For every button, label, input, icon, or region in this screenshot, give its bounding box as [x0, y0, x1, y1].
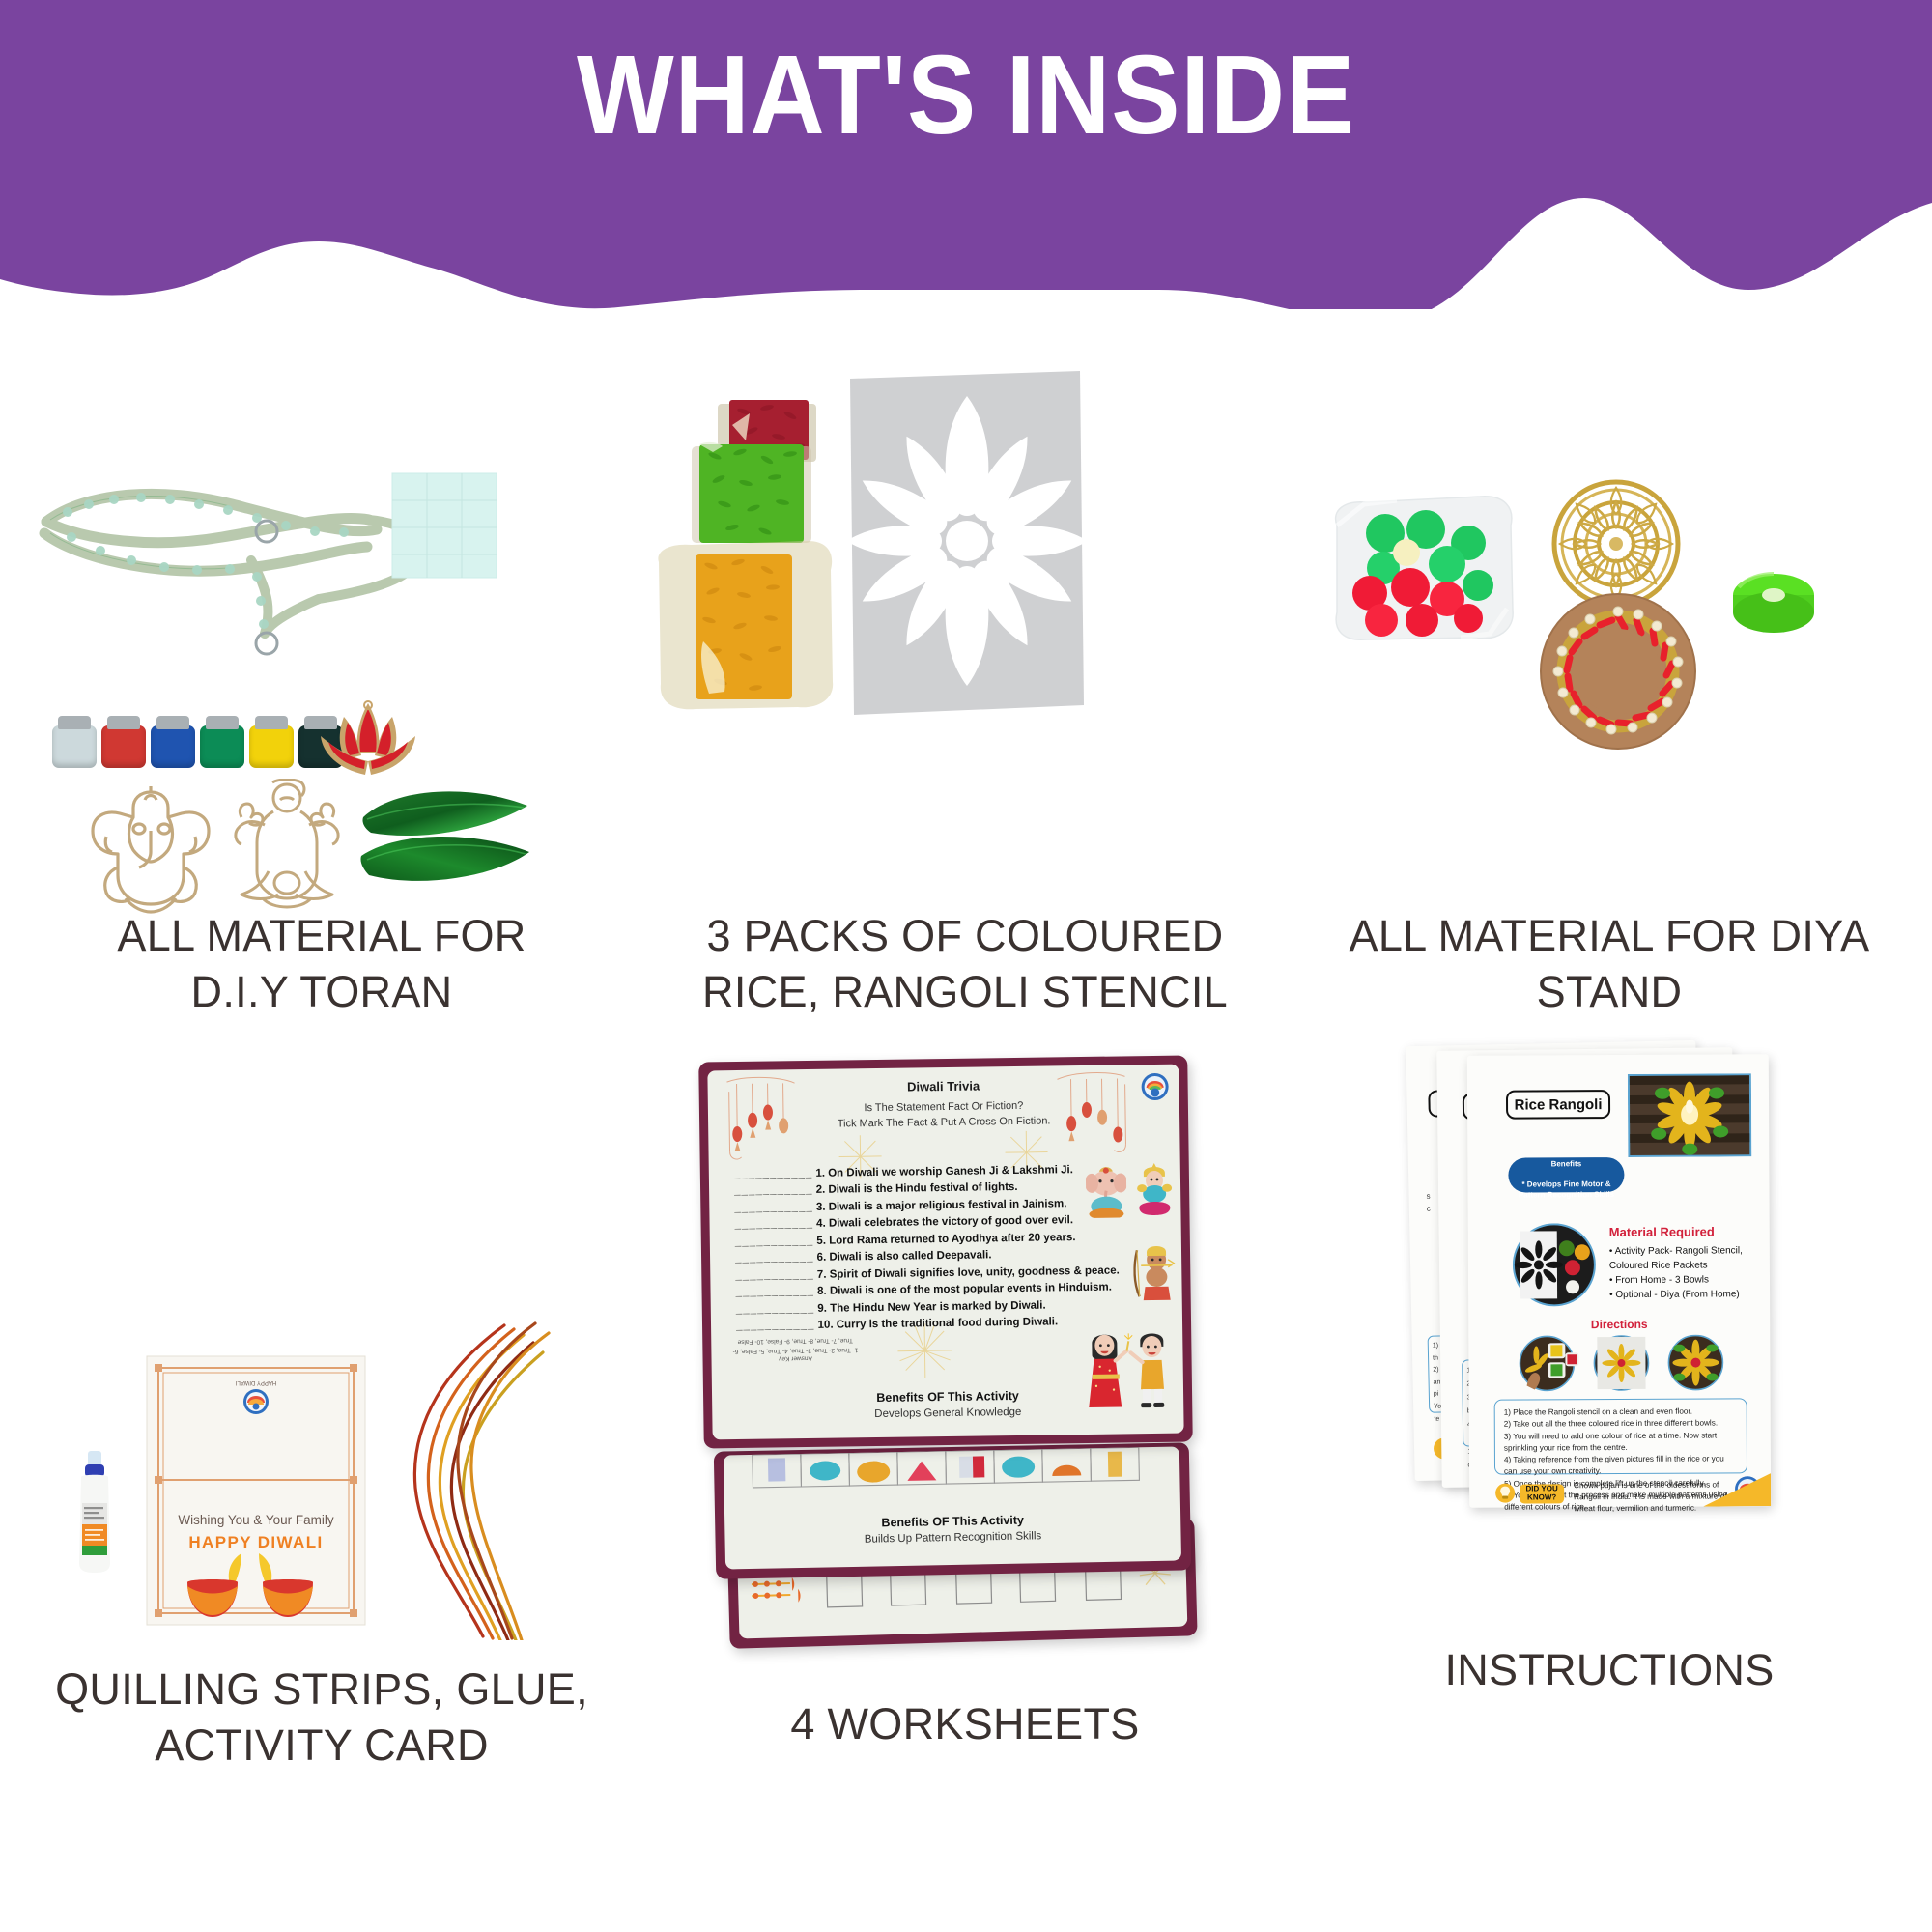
- directions-box: 1) Place the Rangoli stencil on a clean …: [1494, 1398, 1747, 1474]
- answer-blank[interactable]: ___________: [736, 1320, 815, 1332]
- activity-name-pill: Rice Rangoli: [1506, 1090, 1610, 1120]
- item-coloured-rice-stencil: 3 PACKS OF COLOURED RICE, RANGOLI STENCI…: [643, 348, 1287, 966]
- question-text: 2. Diwali is the Hindu festival of light…: [816, 1181, 1018, 1196]
- instruction-page-3-text: sc: [1426, 1191, 1431, 1216]
- question-text: 9. The Hindu New Year is marked by Diwal…: [817, 1299, 1045, 1314]
- rangoli-stencil: [844, 367, 1088, 721]
- page-title: WHAT'S INSIDE: [77, 37, 1855, 155]
- contents-grid: ALL MATERIAL FOR D.I.Y TORAN: [0, 290, 1932, 1932]
- bulb-icon: [1494, 1483, 1516, 1504]
- answer-key-text: 1- True, 2- True, 3- True, 4- True, 5- F…: [732, 1335, 858, 1355]
- paint-pot-green: [200, 725, 244, 768]
- quilling-strips: [390, 1321, 554, 1640]
- benefits-cloud-body: * Develops Fine Motor & Pattern Recognit…: [1519, 1179, 1614, 1199]
- paint-pot-red: [101, 725, 146, 768]
- question-text: 6. Diwali is also called Deepavali.: [817, 1250, 992, 1264]
- item-instructions: sc 1)th2)anpiYote 123b41c Rice Rangoli: [1287, 1024, 1932, 1855]
- answer-blank[interactable]: ___________: [735, 1252, 814, 1264]
- question-text: 8. Diwali is one of the most popular eve…: [817, 1282, 1112, 1297]
- material-item-1: • Activity Pack- Rangoli Stencil,: [1609, 1243, 1764, 1259]
- ganesh-mdf-cutout: [83, 784, 218, 916]
- worksheet-sheet-2-paper: Benefits OF This Activity Builds Up Patt…: [724, 1446, 1181, 1569]
- question-text: 3. Diwali is a major religious festival …: [816, 1198, 1067, 1213]
- activity-greeting-card: HAPPY DIWALI Wishing You & Your Family H…: [145, 1354, 367, 1627]
- caption-worksheets: 4 WORKSHEETS: [643, 1696, 1287, 1752]
- item-worksheets: Pl: [643, 1024, 1287, 1855]
- material-required-heading: Material Required: [1609, 1224, 1715, 1239]
- did-you-know-text: Chowk pujan is one of the oldest forms o…: [1574, 1479, 1740, 1515]
- worksheet-sheet-2: Benefits OF This Activity Builds Up Patt…: [714, 1442, 1191, 1578]
- answer-blank[interactable]: ___________: [735, 1286, 814, 1298]
- question-text: 5. Lord Rama returned to Ayodhya after 2…: [816, 1232, 1075, 1247]
- worksheet-sheet-1-paper: Diwali Trivia Is The Statement Fact Or F…: [707, 1065, 1183, 1440]
- instruction-page-front: Rice Rangoli: [1467, 1054, 1771, 1508]
- caption-coloured-rice-stencil: 3 PACKS OF COLOURED RICE, RANGOLI STENCI…: [643, 908, 1287, 1019]
- caption-quilling-card: QUILLING STRIPS, GLUE, ACTIVITY CARD: [0, 1662, 643, 1773]
- pattern-picture-strip: [724, 1446, 1180, 1513]
- answer-blank[interactable]: ___________: [735, 1236, 814, 1248]
- question-text: 10. Curry is the traditional food during…: [818, 1317, 1059, 1331]
- svg-text:HAPPY DIWALI: HAPPY DIWALI: [236, 1379, 277, 1385]
- ganesh-clipart: [1086, 1165, 1127, 1218]
- benefits-text-1: Develops General Knowledge: [712, 1405, 1183, 1423]
- question-text: 1. On Diwali we worship Ganesh Ji & Laks…: [815, 1164, 1073, 1179]
- answer-blank[interactable]: ___________: [735, 1218, 814, 1231]
- benefits-cloud-title: Benefits: [1551, 1160, 1582, 1169]
- diya-stand-base: [1538, 591, 1698, 752]
- question-text: 4. Diwali celebrates the victory of good…: [816, 1215, 1073, 1231]
- item-diy-toran: ALL MATERIAL FOR D.I.Y TORAN: [0, 348, 643, 966]
- material-item-2: Coloured Rice Packets: [1609, 1258, 1764, 1273]
- svg-text:HAPPY DIWALI: HAPPY DIWALI: [188, 1533, 323, 1551]
- answer-blank[interactable]: ___________: [736, 1303, 815, 1316]
- direction-step-2: 2) Take out all the three coloured rice …: [1504, 1418, 1738, 1432]
- material-item-4: • Optional - Diya (From Home): [1609, 1287, 1764, 1302]
- rice-packet-yellow: [653, 537, 837, 713]
- direction-step-3: 3) You will need to add one colour of ri…: [1504, 1430, 1738, 1455]
- direction-step-photos: [1519, 1334, 1723, 1391]
- pompom-pack: [1325, 493, 1519, 657]
- caption-instructions: INSTRUCTIONS: [1287, 1642, 1932, 1698]
- paint-pot-blue: [151, 725, 195, 768]
- item-diya-stand: ALL MATERIAL FOR DIYA STAND: [1287, 348, 1932, 966]
- lakshmi-mdf-cutout: [224, 779, 350, 916]
- direction-step-4: 4) Taking reference from the given pictu…: [1504, 1454, 1738, 1479]
- worksheet-sheet-1: Diwali Trivia Is The Statement Fact Or F…: [698, 1055, 1193, 1448]
- rangoli-hero-photo: [1628, 1073, 1751, 1157]
- question-text: 7. Spirit of Diwali signifies love, unit…: [817, 1264, 1120, 1280]
- paint-pot-row: [52, 720, 342, 778]
- tealight-holder-green: [1729, 570, 1818, 638]
- page-header: WHAT'S INSIDE: [0, 0, 1932, 309]
- paint-pot-yellow: [249, 725, 294, 768]
- paint-pot-white: [52, 725, 97, 768]
- gold-filigree-disc: [1551, 479, 1681, 609]
- caption-diy-toran: ALL MATERIAL FOR D.I.Y TORAN: [0, 908, 643, 1019]
- svg-text:Wishing You & Your Family: Wishing You & Your Family: [178, 1513, 334, 1527]
- answer-blank[interactable]: ___________: [734, 1184, 813, 1197]
- directions-heading: Directions: [1468, 1317, 1770, 1332]
- lakshmi-clipart: [1134, 1161, 1176, 1218]
- material-photo-circle: [1513, 1223, 1596, 1306]
- material-item-3: • From Home - 3 Bowls: [1609, 1272, 1764, 1288]
- rama-clipart: [1133, 1244, 1179, 1305]
- answer-blank[interactable]: ___________: [734, 1168, 813, 1180]
- rice-packet-green: [690, 440, 813, 549]
- benefits-cloud: Benefits * Develops Fine Motor & Pattern…: [1508, 1157, 1624, 1193]
- adhesive-sheet: [390, 471, 498, 580]
- answer-blank[interactable]: ___________: [735, 1269, 814, 1282]
- item-quilling-card: HAPPY DIWALI Wishing You & Your Family H…: [0, 1024, 643, 1855]
- answer-blank[interactable]: ___________: [734, 1202, 813, 1214]
- lotus-mdf-cutout: [309, 697, 427, 784]
- green-leaves: [357, 782, 531, 908]
- worksheet-answer-key: Answer Key 1- True, 2- True, 3- True, 4-…: [732, 1335, 858, 1362]
- did-you-know-badge: DID YOU KNOW?: [1520, 1484, 1564, 1503]
- glue-bottle: [68, 1449, 122, 1575]
- caption-diya-stand: ALL MATERIAL FOR DIYA STAND: [1287, 908, 1932, 1019]
